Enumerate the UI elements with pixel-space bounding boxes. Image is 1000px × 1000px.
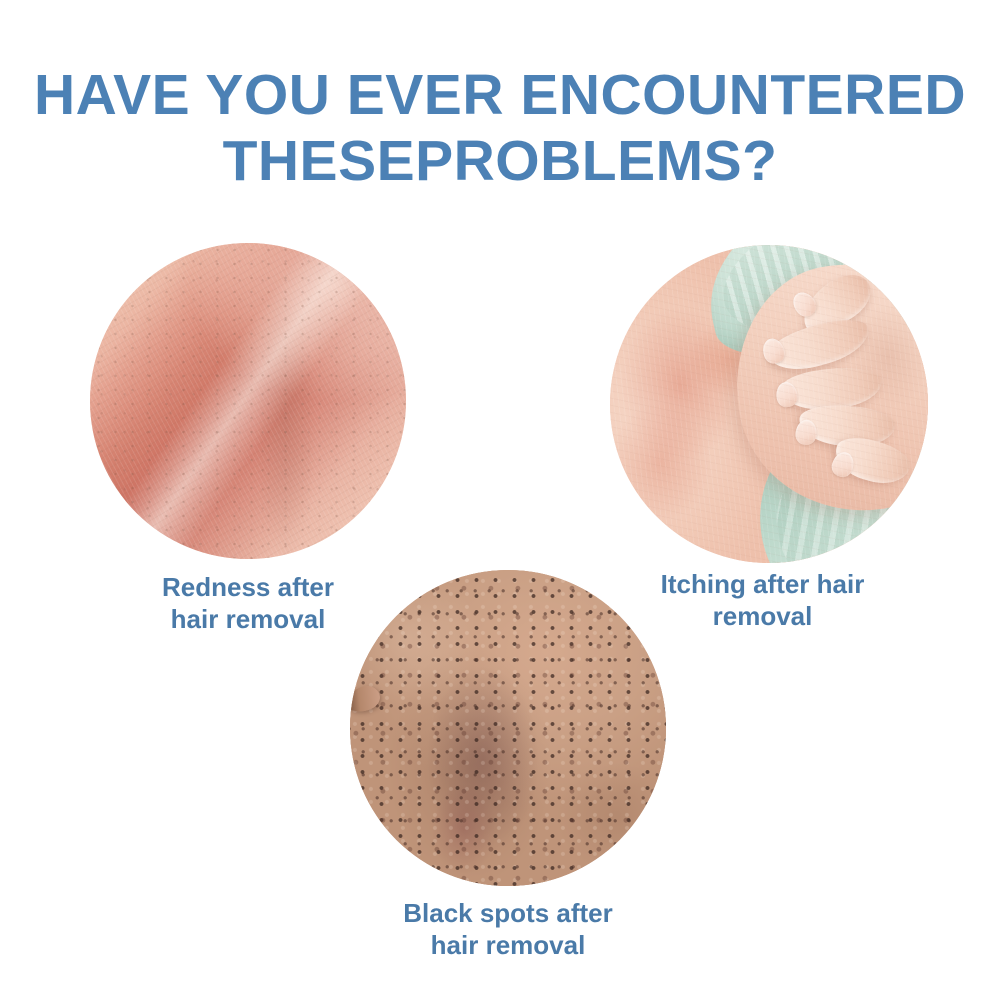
page-title: HAVE YOU EVER ENCOUNTERED THESEPROBLEMS? (0, 62, 1000, 194)
arm-skin-grain-texture (610, 245, 928, 563)
problem-caption-black-spots: Black spots after hair removal (348, 897, 668, 961)
image-corner-notch (355, 539, 390, 559)
circle-clip (610, 245, 928, 563)
skin-grain-texture (90, 243, 406, 559)
problem-caption-itching: Itching after hair removal (595, 568, 930, 632)
problem-image-redness (90, 243, 406, 559)
problems-poster: HAVE YOU EVER ENCOUNTERED THESEPROBLEMS? (0, 0, 1000, 1000)
problem-caption-redness: Redness after hair removal (88, 571, 408, 635)
problem-image-itching (610, 245, 928, 563)
